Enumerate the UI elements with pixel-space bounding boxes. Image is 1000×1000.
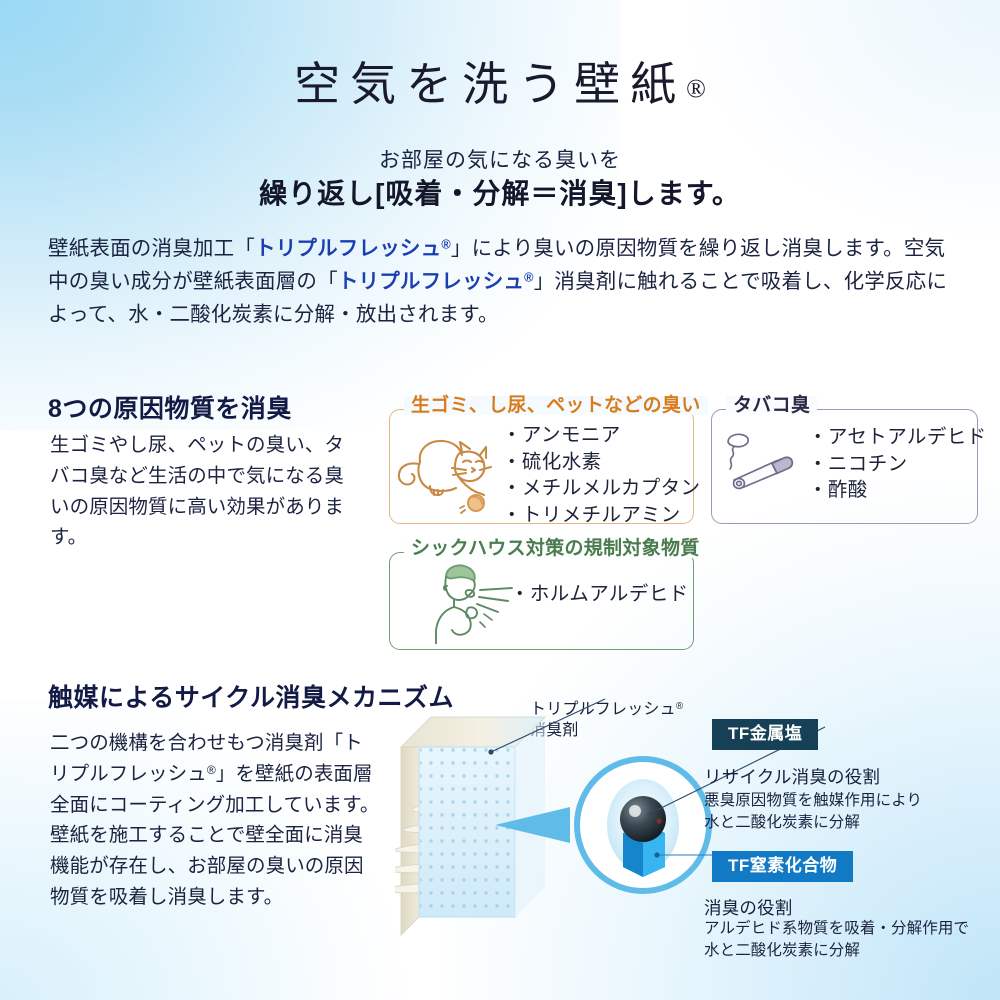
odor-box-kitchen-items: ・アンモニア ・硫化水素 ・メチルメルカプタン ・トリメチルアミン xyxy=(502,422,700,528)
section-paragraph-odor: 生ゴミやし尿、ペットの臭い、タバコ臭など生活の中で気になる臭いの原因物質に高い効… xyxy=(50,430,360,553)
list-item: ・アセトアルデヒド xyxy=(808,424,987,451)
brand-name-2-text: トリプルフレッシュ xyxy=(338,270,524,293)
odor-box-sickhouse-legend: シックハウス対策の規制対象物質 xyxy=(404,539,707,558)
brand-1-reg-mark: ® xyxy=(441,237,451,252)
odor-box-tobacco-legend: タバコ臭 xyxy=(726,396,817,415)
list-item: ・ホルムアルデヒド xyxy=(510,581,689,608)
callout-body-nitrogen: アルデヒド系物質を吸着・分解作用で 水と二酸化炭素に分解 xyxy=(704,918,969,962)
page-title-text: 空気を洗う壁紙 xyxy=(294,59,686,110)
list-item: ・トリメチルアミン xyxy=(502,502,700,529)
odor-box-kitchen-legend: 生ゴミ、し尿、ペットなどの臭い xyxy=(404,396,708,415)
cat-icon xyxy=(396,424,501,519)
mech-reg-mark: ® xyxy=(207,763,216,777)
lead-paragraph: 壁紙表面の消臭加工「トリプルフレッシュ®」により臭いの原因物質を繰り返し消臭しま… xyxy=(48,232,952,332)
brand-name-1: トリプルフレッシュ® xyxy=(255,237,451,260)
list-item: ・硫化水素 xyxy=(502,449,700,476)
callout-body-metal-salt: 悪臭原因物質を触媒作用により 水と二酸化炭素に分解 xyxy=(704,790,922,834)
brand-name-2: トリプルフレッシュ® xyxy=(338,270,534,293)
infographic-page: 空気を洗う壁紙® お部屋の気になる臭いを 繰り返し[吸着・分解＝消臭]します。 … xyxy=(0,0,1000,1000)
badge-tf-nitrogen-compound: TF窒素化合物 xyxy=(712,851,853,882)
brand-name-1-text: トリプルフレッシュ xyxy=(255,237,441,260)
list-item: ・ニコチン xyxy=(808,451,987,478)
callout-title-nitrogen: 消臭の役割 xyxy=(704,895,793,920)
coughing-person-icon xyxy=(424,560,520,649)
callout-title-metal-salt: リサイクル消臭の役割 xyxy=(704,764,880,789)
badge-tf-metal-salt: TF金属塩 xyxy=(712,719,818,750)
section-heading-odor: 8つの原因物質を消臭 xyxy=(48,389,292,425)
brand-2-reg-mark: ® xyxy=(524,270,534,285)
section-heading-mechanism: 触媒によるサイクル消臭メカニズム xyxy=(48,678,454,714)
subtitle-line-2: 繰り返し[吸着・分解＝消臭]します。 xyxy=(0,172,1000,212)
subtitle-line-1: お部屋の気になる臭いを xyxy=(0,144,1000,174)
registered-trademark-mark: ® xyxy=(686,74,706,103)
page-title: 空気を洗う壁紙® xyxy=(0,48,1000,114)
list-item: ・メチルメルカプタン xyxy=(502,475,700,502)
list-item: ・アンモニア xyxy=(502,422,700,449)
odor-box-tobacco-items: ・アセトアルデヒド ・ニコチン ・酢酸 xyxy=(808,424,987,504)
lead-part-1: 壁紙表面の消臭加工「 xyxy=(48,237,255,260)
section-paragraph-mechanism: 二つの機構を合わせもつ消臭剤「トリプルフレッシュ®」を壁紙の表面層全面にコーティ… xyxy=(50,728,380,913)
odor-box-sickhouse-items: ・ホルムアルデヒド xyxy=(510,581,689,608)
cigarette-icon xyxy=(714,428,804,505)
list-item: ・酢酸 xyxy=(808,477,987,504)
